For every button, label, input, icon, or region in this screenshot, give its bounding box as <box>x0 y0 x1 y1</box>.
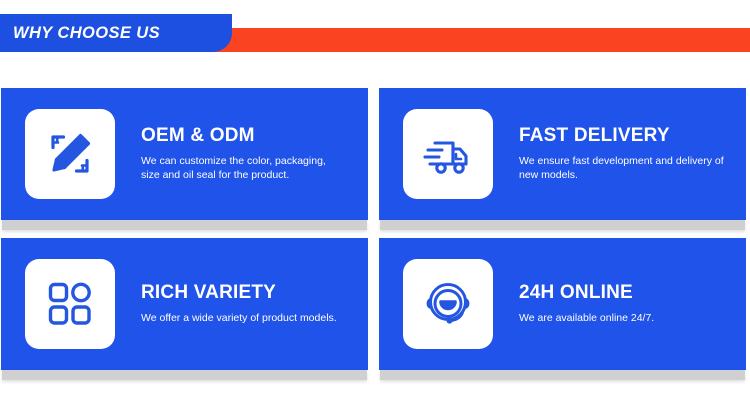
feature-card-rich-variety[interactable]: RICH VARIETY We offer a wide variety of … <box>1 238 368 370</box>
feature-card-fast-delivery[interactable]: FAST DELIVERY We ensure fast development… <box>379 88 746 220</box>
headset-support-icon <box>422 278 474 330</box>
icon-container <box>25 259 115 349</box>
page-header: WHY CHOOSE US <box>0 0 750 60</box>
card-description: We can customize the color, packaging, s… <box>141 154 346 182</box>
pencil-ruler-icon <box>45 129 95 179</box>
card-text-block: RICH VARIETY We offer a wide variety of … <box>115 283 347 325</box>
feature-card-24h-online[interactable]: 24H ONLINE We are available online 24/7. <box>379 238 746 370</box>
card-description: We ensure fast development and delivery … <box>519 154 724 182</box>
card-title: 24H ONLINE <box>519 283 654 304</box>
delivery-truck-icon <box>422 128 474 180</box>
header-red-bar <box>185 28 750 52</box>
header-blue-banner: WHY CHOOSE US <box>0 14 232 52</box>
icon-container <box>403 109 493 199</box>
page-title: WHY CHOOSE US <box>0 24 160 43</box>
card-description: We are available online 24/7. <box>519 311 654 325</box>
card-description: We offer a wide variety of product model… <box>141 311 337 325</box>
grid-variety-icon <box>46 280 94 328</box>
card-text-block: 24H ONLINE We are available online 24/7. <box>493 283 664 325</box>
feature-card-oem-odm[interactable]: OEM & ODM We can customize the color, pa… <box>1 88 368 220</box>
feature-card-grid: OEM & ODM We can customize the color, pa… <box>0 88 750 388</box>
card-title: RICH VARIETY <box>141 283 337 304</box>
icon-container <box>403 259 493 349</box>
card-title: OEM & ODM <box>141 126 346 147</box>
icon-container <box>25 109 115 199</box>
card-text-block: OEM & ODM We can customize the color, pa… <box>115 126 356 182</box>
card-title: FAST DELIVERY <box>519 126 724 147</box>
card-text-block: FAST DELIVERY We ensure fast development… <box>493 126 734 182</box>
